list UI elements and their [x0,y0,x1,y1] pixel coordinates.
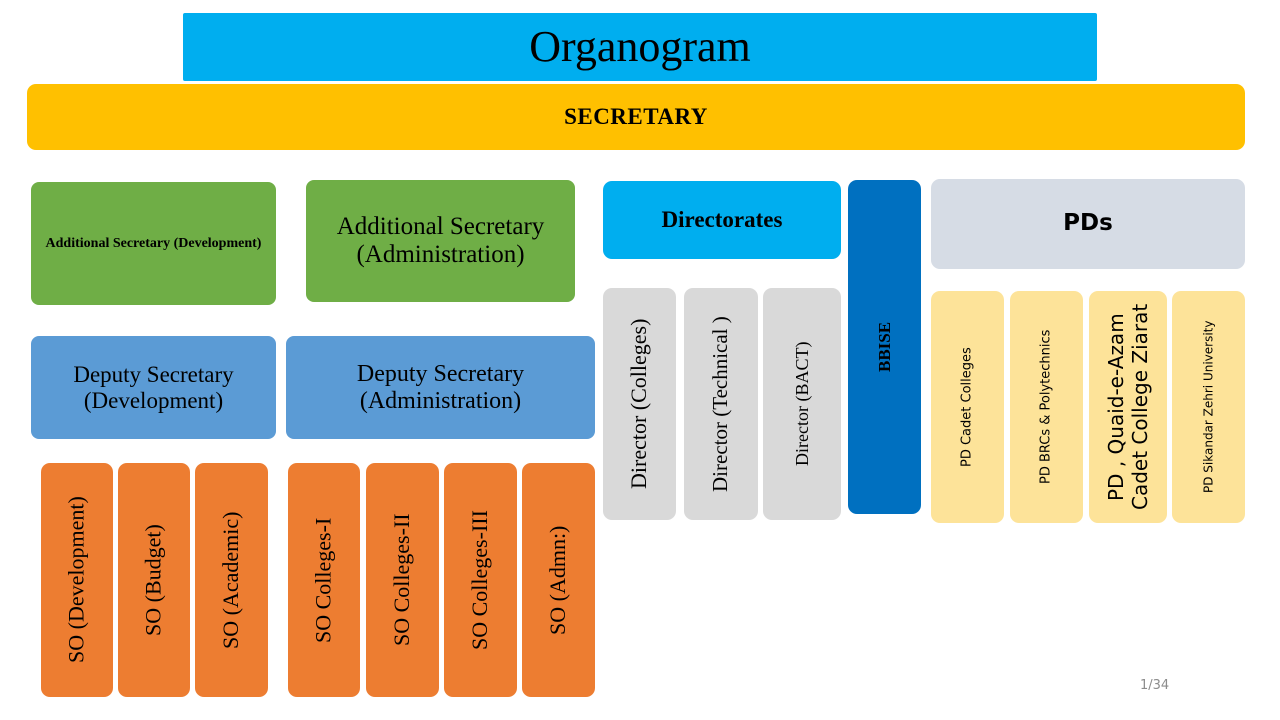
director-bact-node: Director (BACT) [763,288,841,520]
bbise-node: BBISE [848,180,921,514]
director-technical-node: Director (Technical ) [684,288,758,520]
slide-title: Organogram [183,13,1097,81]
section-officer-academic-node: SO (Academic) [195,463,268,697]
section-officer-development-node: SO (Development) [41,463,113,697]
pd-quaid-e-azam-cadet-college-ziarat-node: PD , Quaid-e-Azam Cadet College Ziarat [1089,291,1167,523]
deputy-secretary-development-node: Deputy Secretary (Development) [31,336,276,439]
director-colleges-node: Director (Colleges) [603,288,676,520]
secretary-node: SECRETARY [27,84,1245,150]
pd-cadet-colleges-node: PD Cadet Colleges [931,291,1004,523]
section-officer-colleges-2-node: SO Colleges-II [366,463,439,697]
section-officer-colleges-1-node: SO Colleges-I [288,463,360,697]
section-officer-colleges-3-node: SO Colleges-III [444,463,517,697]
pd-sikandar-zehri-university-node: PD Sikandar Zehri University [1172,291,1245,523]
section-officer-budget-node: SO (Budget) [118,463,190,697]
additional-secretary-development-node: Additional Secretary (Development) [31,182,276,305]
pd-brcs-polytechnics-node: PD BRCs & Polytechnics [1010,291,1083,523]
section-officer-admn-node: SO (Admn:) [522,463,595,697]
directorates-header-node: Directorates [603,181,841,259]
additional-secretary-administration-node: Additional Secretary (Administration) [306,180,575,302]
deputy-secretary-administration-node: Deputy Secretary (Administration) [286,336,595,439]
page-number: 1/34 [1140,678,1200,693]
pds-header-node: PDs [931,179,1245,269]
organogram-slide: Organogram SECRETARY Additional Secretar… [0,0,1280,720]
